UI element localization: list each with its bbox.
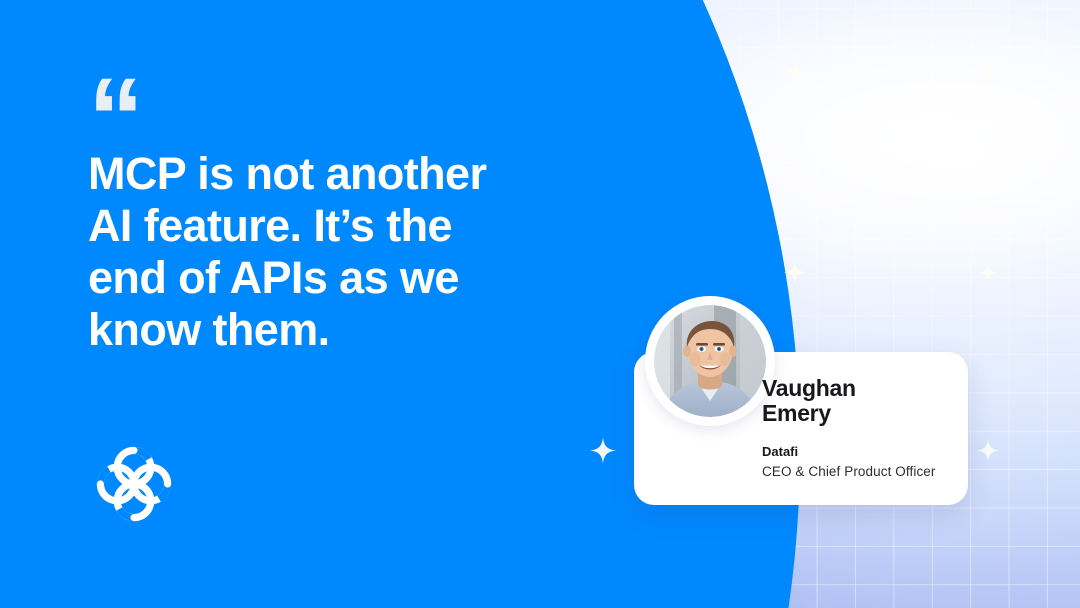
speaker-role: CEO & Chief Product Officer — [762, 463, 967, 480]
avatar — [645, 296, 775, 426]
speaker-details: Vaughan Emery Datafi CEO & Chief Product… — [762, 376, 967, 480]
quote-slide: “ MCP is not another AI feature. It’s th… — [0, 0, 1080, 608]
datafi-knot-logo-icon — [92, 442, 176, 526]
avatar-photo — [654, 305, 766, 417]
speaker-company: Datafi — [762, 444, 967, 460]
speaker-name: Vaughan Emery — [762, 376, 967, 426]
quote-headline: MCP is not another AI feature. It’s the … — [88, 148, 558, 356]
